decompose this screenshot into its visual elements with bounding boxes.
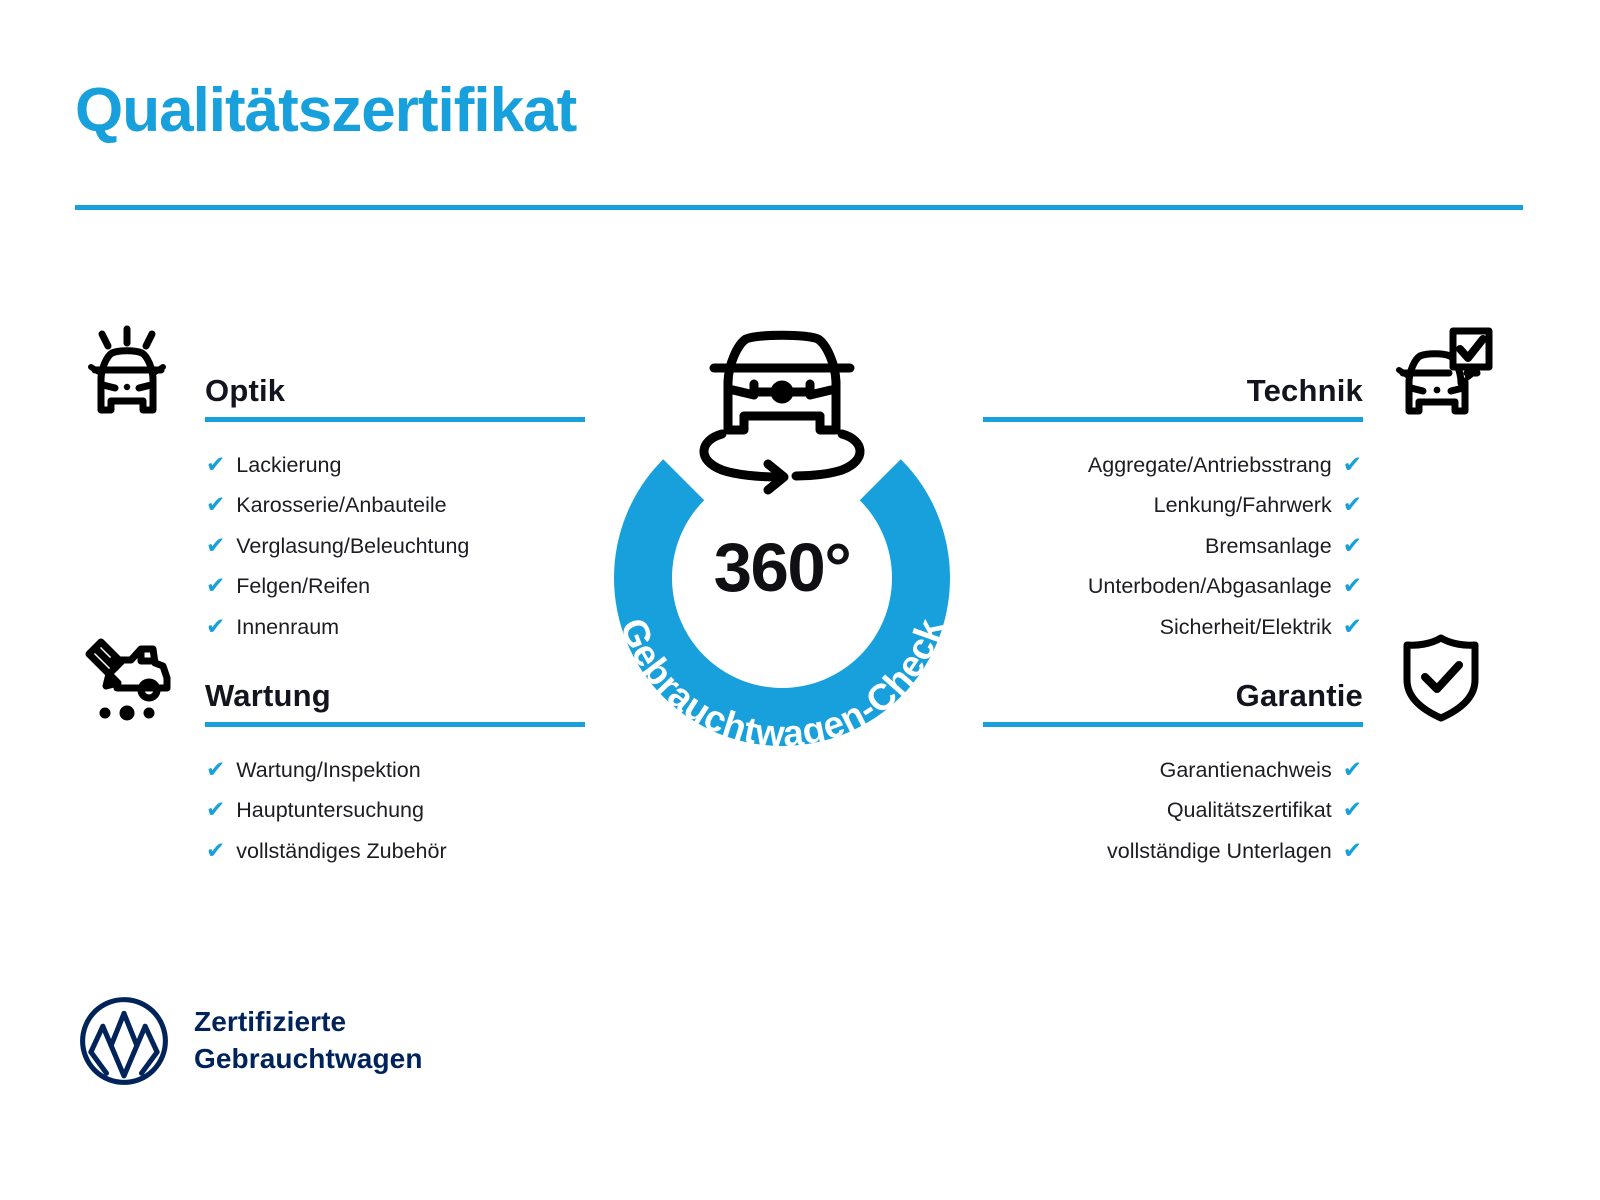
check-icon: ✔ xyxy=(206,758,225,781)
list-item-label: Karosserie/Anbauteile xyxy=(236,495,446,517)
check-icon: ✔ xyxy=(1343,758,1362,781)
section-header: Garantie xyxy=(983,630,1493,727)
check-icon: ✔ xyxy=(1343,798,1362,821)
check-icon: ✔ xyxy=(1343,493,1362,516)
list-item-label: Lenkung/Fahrwerk xyxy=(1154,495,1332,517)
section-title-wrap: Wartung xyxy=(205,679,585,727)
list-item: Unterboden/Abgasanlage✔ xyxy=(983,566,1493,607)
section-title: Wartung xyxy=(205,679,585,722)
check-icon: ✔ xyxy=(1343,574,1362,597)
check-icon: ✔ xyxy=(206,839,225,862)
list-item-label: Lackierung xyxy=(236,455,341,477)
checklist-optik: ✔Lackierung ✔Karosserie/Anbauteile ✔Verg… xyxy=(75,444,585,647)
list-item: ✔Verglasung/Beleuchtung xyxy=(75,525,585,566)
check-icon: ✔ xyxy=(206,493,225,516)
list-item: Lenkung/Fahrwerk✔ xyxy=(983,485,1493,526)
section-garantie: Garantie Garantienachweis✔ Qualitätszert… xyxy=(983,630,1493,871)
check-icon: ✔ xyxy=(1343,839,1362,862)
shield-check-icon xyxy=(1389,630,1493,722)
section-header: Technik xyxy=(983,325,1493,422)
section-underline xyxy=(983,722,1363,727)
list-item-label: Garantienachweis xyxy=(1160,760,1332,782)
list-item-label: vollständiges Zubehör xyxy=(236,841,446,863)
list-item: ✔Felgen/Reifen xyxy=(75,566,585,607)
list-item-label: Bremsanlage xyxy=(1205,536,1332,558)
check-icon: ✔ xyxy=(1343,534,1362,557)
title-divider xyxy=(75,205,1523,210)
section-title: Garantie xyxy=(983,679,1363,722)
list-item-label: Aggregate/Antriebsstrang xyxy=(1088,455,1332,477)
section-technik: Technik Aggregate/Antriebsstrang✔ Lenkun… xyxy=(983,325,1493,647)
list-item: ✔Hauptuntersuchung xyxy=(75,790,585,831)
check-icon: ✔ xyxy=(206,798,225,821)
list-item-label: Felgen/Reifen xyxy=(236,576,370,598)
list-item: Bremsanlage✔ xyxy=(983,525,1493,566)
car-pencil-service-icon xyxy=(75,630,179,722)
list-item: vollständige Unterlagen✔ xyxy=(983,830,1493,871)
list-item-label: Verglasung/Beleuchtung xyxy=(236,536,469,558)
list-item: Qualitätszertifikat✔ xyxy=(983,790,1493,831)
list-item-label: vollständige Unterlagen xyxy=(1107,841,1332,863)
vw-logo xyxy=(78,995,170,1087)
checklist-wartung: ✔Wartung/Inspektion ✔Hauptuntersuchung ✔… xyxy=(75,749,585,871)
check-icon: ✔ xyxy=(206,453,225,476)
footer-line-1: Zertifizierte xyxy=(194,1004,423,1041)
car-front-rotation-icon xyxy=(704,335,860,490)
check-icon: ✔ xyxy=(206,574,225,597)
list-item: Aggregate/Antriebsstrang✔ xyxy=(983,444,1493,485)
section-title: Technik xyxy=(983,374,1363,417)
section-underline xyxy=(205,722,585,727)
list-item: ✔vollständiges Zubehör xyxy=(75,830,585,871)
section-wartung: Wartung ✔Wartung/Inspektion ✔Hauptunters… xyxy=(75,630,585,871)
section-underline xyxy=(205,417,585,422)
360-check-badge: Gebrauchtwagen-Check 360° xyxy=(562,300,1002,760)
page-title: Qualitätszertifikat xyxy=(75,78,576,143)
section-title: Optik xyxy=(205,374,585,417)
section-optik: Optik ✔Lackierung ✔Karosserie/Anbauteile… xyxy=(75,325,585,647)
list-item: Garantienachweis✔ xyxy=(983,749,1493,790)
list-item-label: Qualitätszertifikat xyxy=(1167,800,1332,822)
section-title-wrap: Technik xyxy=(983,374,1363,422)
car-shine-icon xyxy=(75,325,179,417)
footer-line-2: Gebrauchtwagen xyxy=(194,1041,423,1078)
list-item: ✔Karosserie/Anbauteile xyxy=(75,485,585,526)
list-item: ✔Wartung/Inspektion xyxy=(75,749,585,790)
list-item-label: Hauptuntersuchung xyxy=(236,800,424,822)
list-item-label: Unterboden/Abgasanlage xyxy=(1088,576,1332,598)
check-icon: ✔ xyxy=(1343,453,1362,476)
checklist-technik: Aggregate/Antriebsstrang✔ Lenkung/Fahrwe… xyxy=(983,444,1493,647)
car-checkbox-icon xyxy=(1389,325,1493,417)
list-item-label: Wartung/Inspektion xyxy=(236,760,420,782)
badge-center-value: 360° xyxy=(562,528,1002,607)
footer-text: Zertifizierte Gebrauchtwagen xyxy=(194,1004,423,1078)
checklist-garantie: Garantienachweis✔ Qualitätszertifikat✔ v… xyxy=(983,749,1493,871)
footer: Zertifizierte Gebrauchtwagen xyxy=(78,995,423,1087)
section-header: Wartung xyxy=(75,630,585,727)
check-icon: ✔ xyxy=(206,534,225,557)
section-underline xyxy=(983,417,1363,422)
section-header: Optik xyxy=(75,325,585,422)
certificate-page: Qualitätszertifikat xyxy=(0,0,1600,1200)
section-title-wrap: Garantie xyxy=(983,679,1363,727)
section-title-wrap: Optik xyxy=(205,374,585,422)
list-item: ✔Lackierung xyxy=(75,444,585,485)
